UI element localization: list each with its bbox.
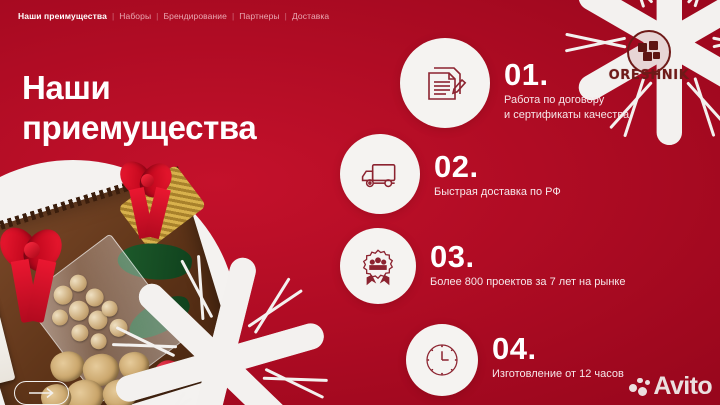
advantage-text-03: 03. Более 800 проектов за 7 лет на рынке xyxy=(430,242,625,290)
advantage-number: 01. xyxy=(504,60,629,89)
avito-watermark: Avito xyxy=(629,374,712,399)
nav-separator: | xyxy=(285,11,287,21)
delivery-truck-icon xyxy=(358,152,402,196)
avito-wordmark: Avito xyxy=(653,374,712,399)
next-slide-button[interactable] xyxy=(14,381,69,405)
nav-item-delivery[interactable]: Доставка xyxy=(292,11,329,21)
nav-separator: | xyxy=(112,11,114,21)
nav-separator: | xyxy=(232,11,234,21)
advantage-item-01: 01. Работа по договору и сертификаты кач… xyxy=(400,38,629,128)
avito-dots-icon xyxy=(629,377,650,397)
top-navigation[interactable]: Наши преимущества | Наборы | Брендирован… xyxy=(18,11,329,21)
advantage-description: Более 800 проектов за 7 лет на рынке xyxy=(430,275,625,289)
clock-icon xyxy=(422,340,462,380)
gift-basket-photo xyxy=(0,152,260,405)
advantage-number: 04. xyxy=(492,334,624,363)
snowflake-icon xyxy=(112,255,327,405)
advantage-description: Работа по договору и сертификаты качеств… xyxy=(504,93,629,122)
advantage-icon-circle xyxy=(340,228,416,304)
advantage-number: 02. xyxy=(434,152,561,181)
advantage-text-01: 01. Работа по договору и сертификаты кач… xyxy=(504,60,629,122)
nav-item-sets[interactable]: Наборы xyxy=(119,11,151,21)
nav-item-partners[interactable]: Партнеры xyxy=(239,11,279,21)
document-pen-icon xyxy=(421,59,469,107)
advantage-text-02: 02. Быстрая доставка по РФ xyxy=(434,152,561,200)
award-rosette-icon xyxy=(357,245,399,287)
page-title-line-1: Наши xyxy=(22,69,110,106)
advantage-text-04: 04. Изготовление от 12 часов xyxy=(492,334,624,382)
product-label xyxy=(0,296,15,394)
page-title: Наши приемущества xyxy=(22,68,256,149)
advantage-item-02: 02. Быстрая доставка по РФ xyxy=(340,134,561,214)
slide-canvas: Наши преимущества | Наборы | Брендирован… xyxy=(0,0,720,405)
nav-item-advantages[interactable]: Наши преимущества xyxy=(18,11,107,21)
arrow-right-icon xyxy=(27,387,57,399)
advantage-number: 03. xyxy=(430,242,625,271)
advantage-item-04: 04. Изготовление от 12 часов xyxy=(406,324,624,396)
nut-emblem-icon xyxy=(627,30,671,74)
photo-backdrop-circle xyxy=(0,160,238,405)
page-title-line-2: приемущества xyxy=(22,108,256,148)
advantage-item-03: 03. Более 800 проектов за 7 лет на рынке xyxy=(340,228,625,304)
advantage-icon-circle xyxy=(400,38,490,128)
nav-separator: | xyxy=(156,11,158,21)
nav-item-branding[interactable]: Брендирование xyxy=(163,11,227,21)
advantage-icon-circle xyxy=(340,134,420,214)
advantage-description: Быстрая доставка по РФ xyxy=(434,185,561,199)
advantage-icon-circle xyxy=(406,324,478,396)
advantage-description: Изготовление от 12 часов xyxy=(492,367,624,381)
